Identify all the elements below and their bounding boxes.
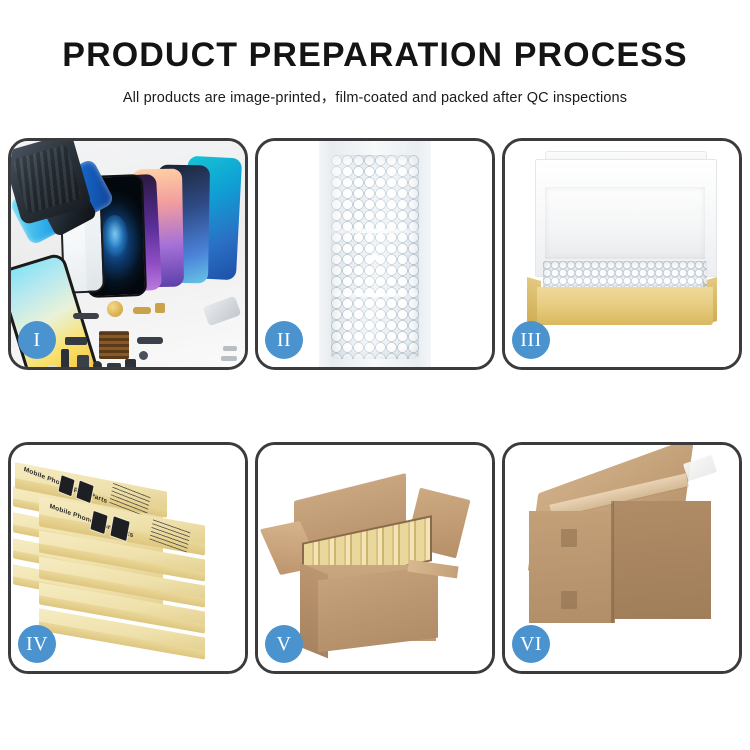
spare-part-chip-gold [155, 303, 165, 313]
bubble-seal-lower [331, 293, 419, 297]
step-panel-1[interactable]: I [8, 138, 248, 370]
page-title: PRODUCT PREPARATION PROCESS [0, 0, 750, 74]
page-subtitle: All products are image-printed，film-coat… [0, 74, 750, 107]
step-badge-5: V [265, 625, 303, 663]
step-badge-4: IV [18, 625, 56, 663]
spare-part-tweezers [203, 296, 242, 326]
foam-liner [545, 187, 705, 259]
spare-part-tool-1 [221, 356, 237, 361]
steps-grid: I II [8, 138, 742, 674]
spare-part-speaker [107, 301, 123, 317]
spare-part-bracket [61, 349, 69, 367]
spare-part-connector [73, 313, 99, 319]
spare-part-camera [77, 355, 89, 367]
spare-part-flex-gold [133, 307, 151, 314]
spare-part-module [107, 363, 121, 367]
kraft-box-front [537, 287, 713, 325]
step-panel-3[interactable]: III [502, 138, 742, 370]
step-badge-1: I [18, 321, 56, 359]
step-panel-6[interactable]: VI [502, 442, 742, 674]
bubble-seal-upper [331, 229, 419, 233]
spare-part-button [93, 361, 102, 367]
step-badge-2: II [265, 321, 303, 359]
spare-part-tool-2 [223, 346, 237, 351]
sealed-carton-vertical-edge [611, 501, 614, 623]
step-badge-3: III [512, 321, 550, 359]
step-panel-4[interactable]: Mobile Phone Spare Parts Mobile Phone Sp… [8, 442, 248, 674]
step-badge-6: VI [512, 625, 550, 663]
header: PRODUCT PREPARATION PROCESS All products… [0, 0, 750, 107]
carton-front-face [318, 566, 438, 653]
sealed-carton-right-face [613, 501, 711, 619]
box-art-screen-front-1 [89, 510, 108, 536]
spare-part-ribbon [65, 337, 87, 345]
carton-seam-lower [561, 591, 577, 609]
product-preparation-process-page: PRODUCT PREPARATION PROCESS All products… [0, 0, 750, 750]
step-panel-5[interactable]: V [255, 442, 495, 674]
bubble-wrap-pouch [331, 155, 419, 359]
bubble-wrapped-product-inside [543, 261, 707, 289]
spare-part-sim-tray [47, 365, 57, 367]
spare-part-pin-grid [99, 331, 129, 359]
spare-part-motor [125, 359, 136, 367]
spare-part-screw [139, 351, 148, 360]
spare-part-cable [137, 337, 163, 344]
step-panel-2[interactable]: II [255, 138, 495, 370]
carton-seam-upper [561, 529, 577, 547]
